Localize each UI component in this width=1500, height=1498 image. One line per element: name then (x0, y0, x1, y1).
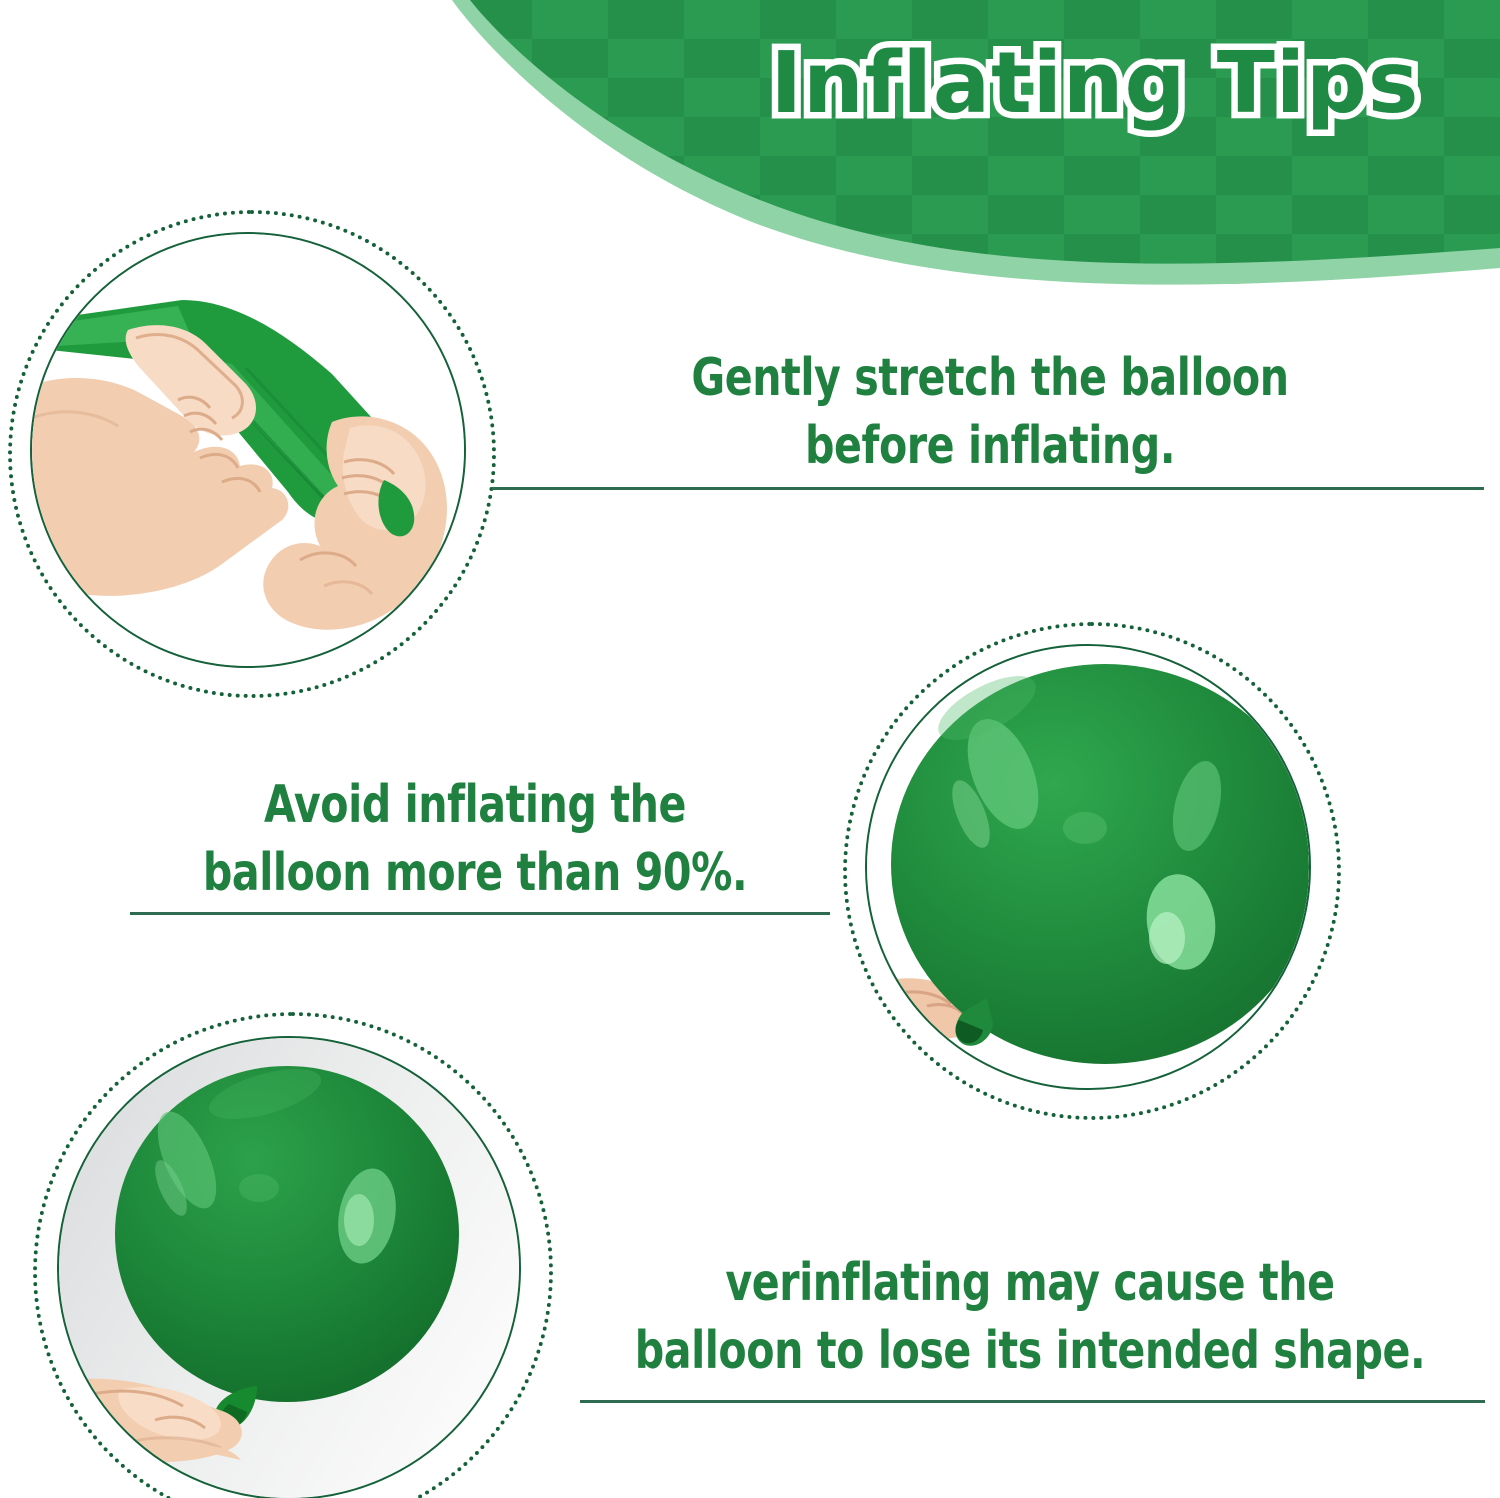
tip-3-line-1: verinflating may cause the (616, 1250, 1443, 1318)
tip-2-image-circle (843, 622, 1333, 1112)
tip-2-line-2: balloon more than 90%. (141, 840, 810, 908)
tip-3-text: verinflating may cause the balloon to lo… (616, 1250, 1443, 1385)
tip-2-underline (130, 912, 830, 915)
hands-stretching-balloon-photo (32, 234, 464, 666)
photo-ring-3 (57, 1036, 521, 1498)
tip-1-line-1: Gently stretch the balloon (532, 345, 1447, 413)
page-title-fill: Inflating Tips (700, 34, 1490, 133)
tip-1-underline (492, 487, 1484, 490)
tip-2-line-1: Avoid inflating the (141, 772, 810, 840)
hand-holding-tied-balloon-photo (59, 1038, 519, 1498)
tip-1-image-circle (8, 210, 488, 690)
photo-ring-1 (30, 232, 466, 668)
tip-1-text: Gently stretch the balloon before inflat… (532, 345, 1447, 480)
photo-ring-2 (865, 644, 1311, 1090)
tip-3-underline (580, 1400, 1485, 1403)
infographic-page: Inflating Tips Inflating Tips (0, 0, 1500, 1498)
large-inflated-balloon-photo (867, 646, 1309, 1088)
tip-1-line-2: before inflating. (532, 413, 1447, 481)
page-title: Inflating Tips Inflating Tips (700, 34, 1490, 133)
tip-2-text: Avoid inflating the balloon more than 90… (141, 772, 810, 907)
tip-3-image-circle (33, 1012, 545, 1498)
tip-3-line-2: balloon to lose its intended shape. (616, 1318, 1443, 1386)
